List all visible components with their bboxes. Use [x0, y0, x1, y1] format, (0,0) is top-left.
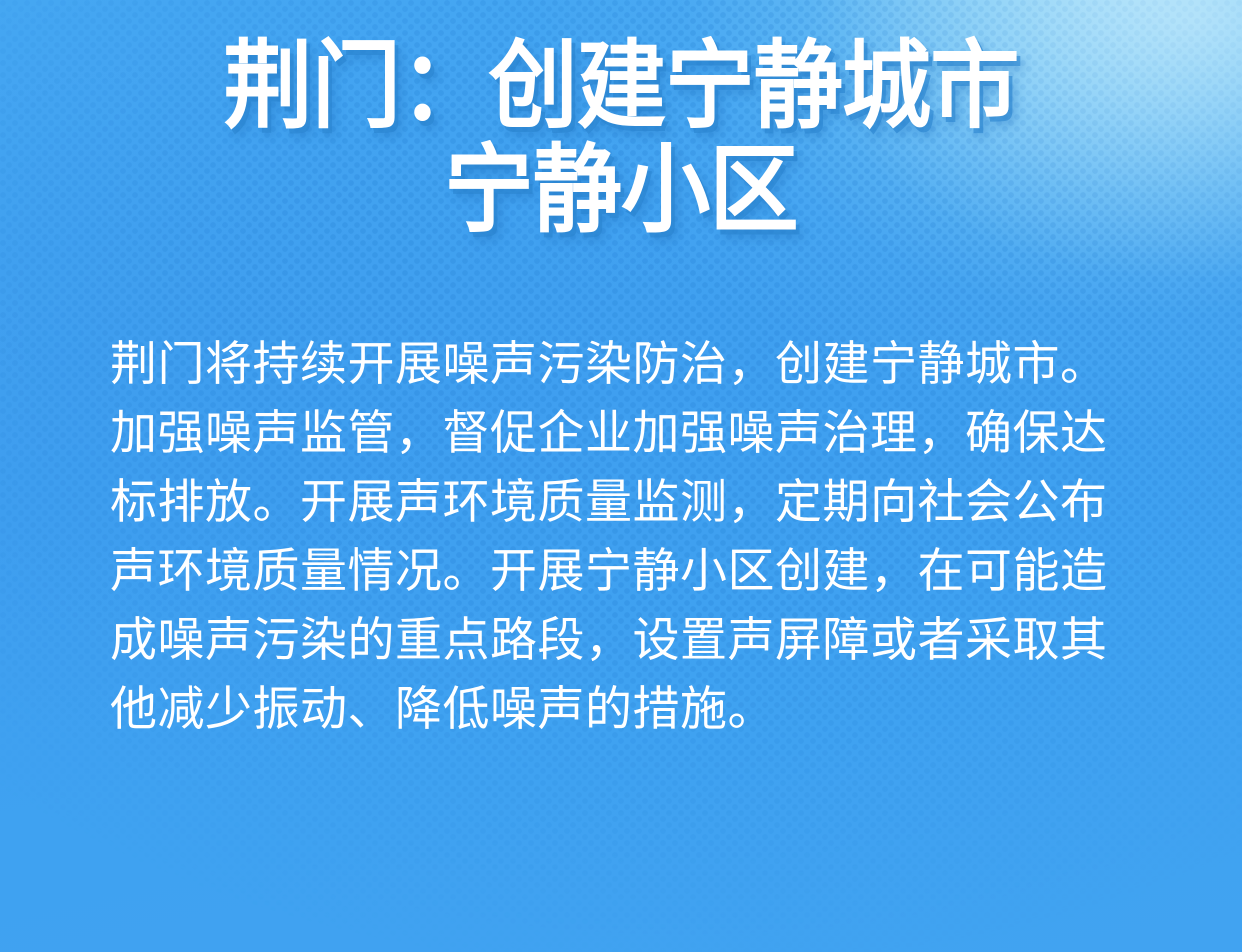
body-line-6: 他减少振动、降低噪声的措施。: [110, 675, 1136, 744]
body-line-2: 加强噪声监管，督促企业加强噪声治理，确保达: [110, 399, 1136, 468]
body-line-5: 成噪声污染的重点路段，设置声屏障或者采取其: [110, 606, 1136, 675]
body-line-4: 声环境质量情况。开展宁静小区创建，在可能造: [110, 537, 1136, 606]
page-title: 荆门：创建宁静城市 宁静小区: [0, 34, 1242, 242]
body-line-1: 荆门将持续开展噪声污染防治，创建宁静城市。: [110, 330, 1136, 399]
poster-canvas: 荆门：创建宁静城市 宁静小区 荆门将持续开展噪声污染防治，创建宁静城市。 加强噪…: [0, 0, 1242, 952]
body-paragraph: 荆门将持续开展噪声污染防治，创建宁静城市。 加强噪声监管，督促企业加强噪声治理，…: [110, 330, 1136, 744]
title-line-2: 宁静小区: [43, 138, 1198, 242]
body-line-3: 标排放。开展声环境质量监测，定期向社会公布: [110, 468, 1136, 537]
title-line-1: 荆门：创建宁静城市: [43, 34, 1198, 138]
